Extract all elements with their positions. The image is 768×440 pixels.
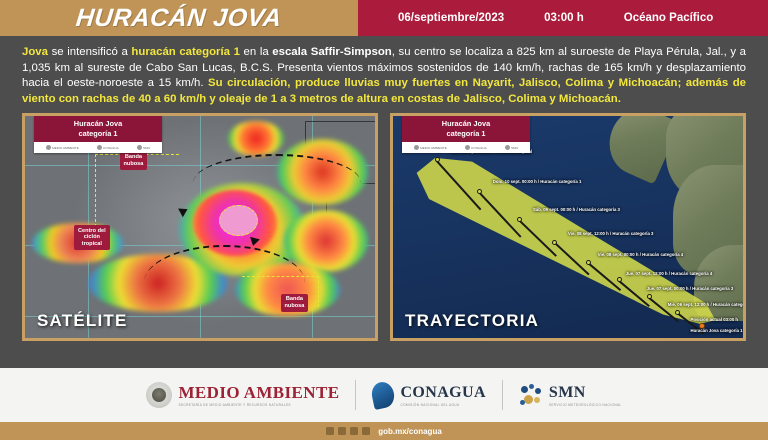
eagle-icon: [46, 145, 51, 150]
footer-logo-bar: MEDIO AMBIENTE SECRETARÍA DE MEDIO AMBIE…: [0, 368, 768, 422]
logo-smn: SMN SERVICIO METEOROLÓGICO NACIONAL: [519, 383, 622, 407]
facebook-icon[interactable]: [326, 427, 334, 435]
panels-row: Banda nubosa Centro del ciclón tropical …: [0, 113, 768, 341]
logo-medio-ambiente-subtitle: SECRETARÍA DE MEDIO AMBIENTE Y RECURSOS …: [178, 403, 339, 407]
logo-medio-ambiente-title: MEDIO AMBIENTE: [178, 384, 339, 402]
logo-smn-title: SMN: [549, 384, 622, 402]
trajectory-badge: Huracán Jova categoría 1 MEDIO AMBIENTE …: [402, 116, 530, 153]
badge-logo-conagua: CONAGUA: [97, 145, 119, 150]
water-drop-icon: [370, 380, 397, 410]
track-label-7: Mié. 06 sept. 12:00 h / Huracán categorí…: [668, 302, 746, 307]
bulletin-seg-2: se intensificó a: [48, 46, 131, 58]
website-url[interactable]: gob.mx/conagua: [378, 427, 442, 436]
logo-divider-1: [355, 380, 356, 410]
track-label-5: Jue. 07 sept. 12:00 h / Huracán categorí…: [626, 271, 712, 276]
trajectory-panel[interactable]: Lun. 11 sept. 00:00 h / Tormenta tropica…: [390, 113, 746, 341]
logo-conagua-title: CONAGUA: [400, 384, 485, 402]
saffir-simpson-scale: escala Saffir-Simpson: [272, 46, 391, 58]
spiral-icon: [137, 145, 142, 150]
youtube-icon[interactable]: [362, 427, 370, 435]
spiral-icon: [519, 383, 543, 407]
badge-logo-medio-ambiente: MEDIO AMBIENTE: [414, 145, 447, 150]
track-label-2: Sáb. 09 sept. 00:00 h / Huracán categorí…: [533, 207, 620, 212]
page-title: HURACÁN JOVA: [75, 4, 284, 33]
social-footer-bar: gob.mx/conagua: [0, 422, 768, 440]
logo-conagua: CONAGUA COMISIÓN NACIONAL DEL AGUA: [372, 382, 485, 408]
track-label-current: Posición actual 03:00 h: [691, 317, 739, 322]
track-point-1[interactable]: [477, 189, 482, 194]
bulletin-time: 03:00 h: [544, 12, 584, 24]
bulletin-text: Jova se intensificó a huracán categoría …: [0, 36, 768, 113]
logo-medio-ambiente: MEDIO AMBIENTE SECRETARÍA DE MEDIO AMBIE…: [146, 382, 339, 408]
map-label-centro-ciclon: Centro del ciclón tropical: [74, 225, 110, 250]
instagram-icon[interactable]: [350, 427, 358, 435]
badge-line-2: categoría 1: [404, 129, 528, 138]
badge-logo-strip: MEDIO AMBIENTE CONAGUA SMN: [402, 142, 530, 153]
header-meta: 06/septiembre/2023 03:00 h Océano Pacífi…: [358, 0, 768, 36]
badge-logo-smn: SMN: [137, 145, 150, 150]
map-label-banda-nubosa-2: Banda nubosa: [281, 294, 309, 312]
badge-line-1: Huracán Jova: [36, 119, 160, 128]
logo-conagua-subtitle: COMISIÓN NACIONAL DEL AGUA: [400, 403, 485, 407]
badge-line-2: categoría 1: [36, 129, 160, 138]
bulletin-date: 06/septiembre/2023: [398, 12, 504, 24]
badge-logo-conagua: CONAGUA: [465, 145, 487, 150]
eagle-icon: [414, 145, 419, 150]
badge-logo-strip: MEDIO AMBIENTE CONAGUA SMN: [34, 142, 162, 153]
track-label-4: Vie. 08 sept. 00:00 h / Huracán categorí…: [598, 252, 683, 257]
spiral-icon: [505, 145, 510, 150]
satellite-badge: Huracán Jova categoría 1 MEDIO AMBIENTE …: [34, 116, 162, 153]
track-label-1: Dom. 10 sept. 00:00 h / Huracán categorí…: [493, 179, 582, 184]
badge-logo-medio-ambiente: MEDIO AMBIENTE: [46, 145, 79, 150]
twitter-icon[interactable]: [338, 427, 346, 435]
track-label-current-sub: Huracán Jova categoría 1: [691, 328, 743, 333]
bulletin-seg-4: en la: [240, 46, 272, 58]
track-point-6[interactable]: [647, 294, 652, 299]
track-point-7[interactable]: [675, 310, 680, 315]
satellite-panel[interactable]: Banda nubosa Centro del ciclón tropical …: [22, 113, 378, 341]
satellite-caption: SATÉLITE: [37, 311, 128, 331]
track-point-3[interactable]: [552, 240, 557, 245]
water-drop-icon: [465, 145, 470, 150]
track-point-4[interactable]: [586, 260, 591, 265]
logo-divider-2: [502, 380, 503, 410]
trajectory-caption: TRAYECTORIA: [405, 311, 539, 331]
badge-line-1: Huracán Jova: [404, 119, 528, 128]
mexican-eagle-icon: [146, 382, 172, 408]
page-header: HURACÁN JOVA 06/septiembre/2023 03:00 h …: [0, 0, 768, 36]
map-label-banda-nubosa-1: Banda nubosa: [120, 152, 148, 170]
track-label-3: Vie. 08 sept. 12:00 h / Huracán categorí…: [568, 231, 653, 236]
trajectory-badge-title: Huracán Jova categoría 1: [402, 116, 530, 142]
water-drop-icon: [97, 145, 102, 150]
satellite-badge-title: Huracán Jova categoría 1: [34, 116, 162, 142]
logo-smn-subtitle: SERVICIO METEOROLÓGICO NACIONAL: [549, 403, 622, 407]
track-label-6: Jue. 07 sept. 00:00 h / Huracán categorí…: [647, 286, 733, 291]
bulletin-basin: Océano Pacífico: [624, 12, 713, 24]
storm-category: huracán categoría 1: [131, 46, 240, 58]
header-title-block: HURACÁN JOVA: [0, 0, 358, 36]
badge-logo-smn: SMN: [505, 145, 518, 150]
storm-name: Jova: [22, 46, 48, 58]
